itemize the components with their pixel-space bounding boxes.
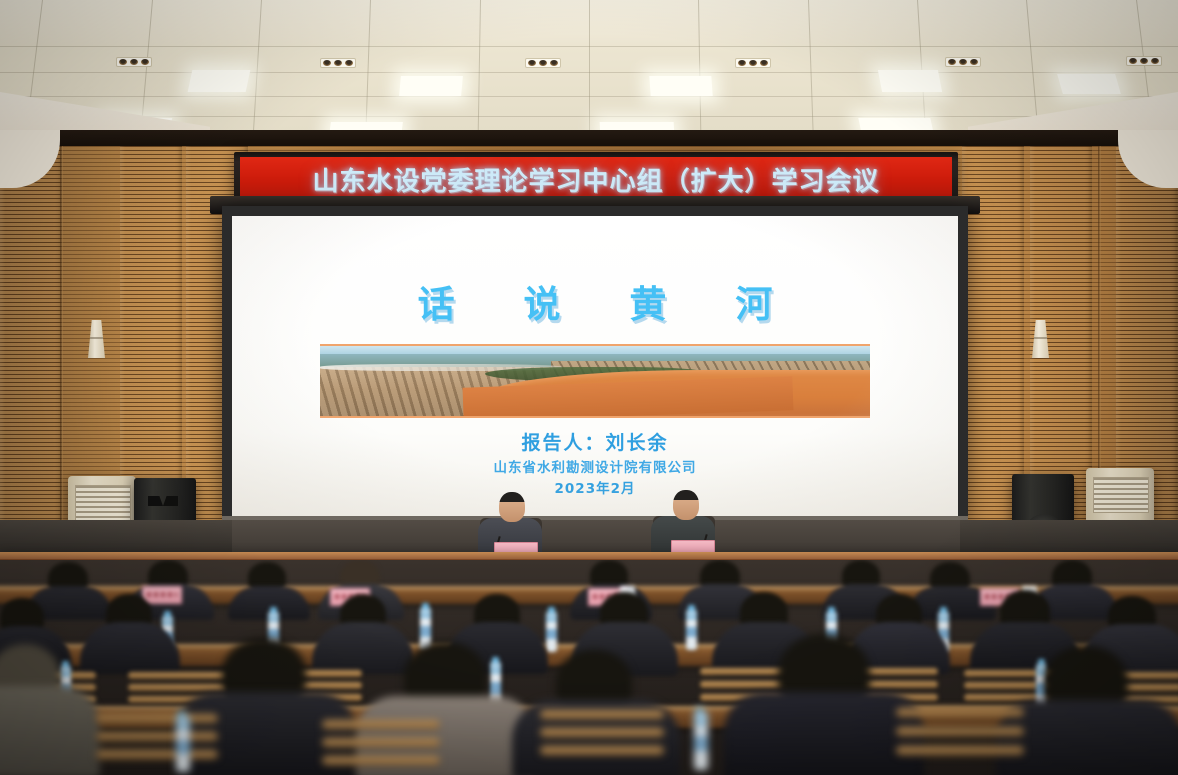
ceiling-light-panel — [878, 70, 942, 92]
led-banner-screen: 山东水设党委理论学习中心组（扩大）学习会议 — [240, 157, 952, 201]
attendee-shoulders — [0, 686, 100, 775]
attendee-shoulders — [80, 622, 180, 674]
audience-chair — [896, 708, 1024, 766]
head-table-edge — [0, 552, 1178, 559]
banner-text: 山东水设党委理论学习中心组（扩大）学习会议 — [312, 161, 879, 198]
audience-chair — [322, 720, 440, 774]
water-bottle — [176, 716, 190, 772]
ceiling-light-panel — [649, 76, 712, 96]
ceiling-light-panel — [188, 70, 251, 92]
ceiling-light-panel — [399, 76, 463, 96]
speaker-horn — [148, 496, 178, 506]
desk-name-card — [142, 586, 182, 604]
ac-grille — [75, 485, 131, 521]
screen-glow — [232, 216, 958, 516]
ceiling-downlight — [116, 57, 152, 67]
water-bottle — [546, 612, 557, 652]
audience-chair — [96, 714, 218, 770]
attendee-shoulders — [312, 622, 414, 674]
ac-grille — [1093, 477, 1149, 513]
water-bottle — [694, 712, 708, 770]
official-head — [673, 490, 699, 520]
official-head — [499, 492, 525, 522]
wall-top-shadow-strip — [0, 130, 1178, 146]
ceiling-downlight — [735, 58, 771, 68]
conference-hall-photo: 山东水设党委理论学习中心组（扩大）学习会议 话 说 黄 河 报告人：刘长余 山东… — [0, 0, 1178, 775]
ceiling-downlight — [945, 57, 981, 67]
ceiling-downlight — [1126, 56, 1162, 66]
ceiling-downlight — [525, 58, 561, 68]
audience-area — [0, 560, 1178, 775]
ceiling-downlight — [320, 58, 356, 68]
water-bottle — [686, 610, 697, 650]
ceiling-light-panel — [1057, 74, 1121, 94]
projector-screen: 话 说 黄 河 报告人：刘长余 山东省水利勘测设计院有限公司 2023年2月 — [232, 216, 958, 516]
audience-chair — [540, 710, 664, 766]
attendee-shoulders — [724, 692, 924, 775]
